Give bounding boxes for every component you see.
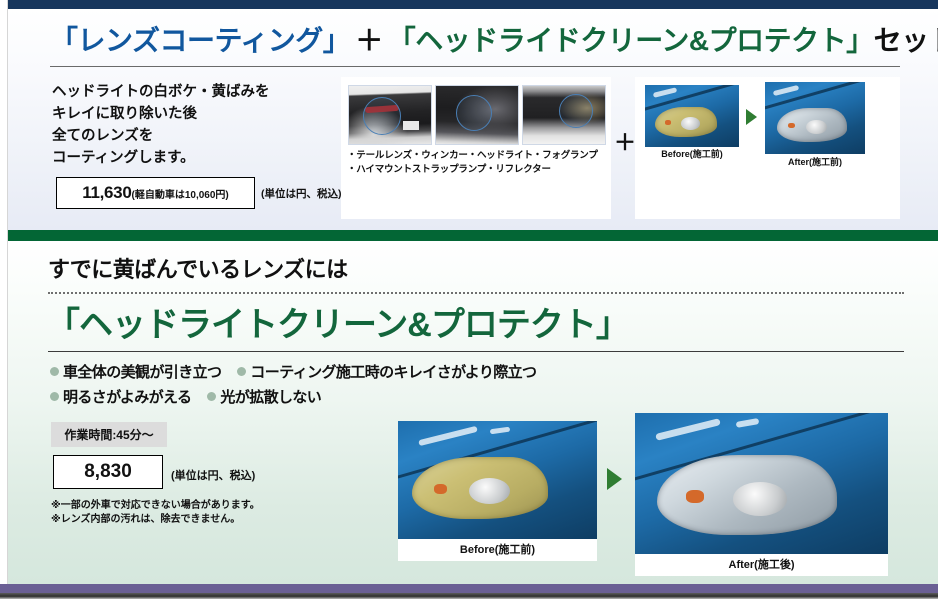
section2-notes: ※一部の外車で対応できない場合があります。 ※レンズ内部の汚れは、除去できません… <box>51 499 260 527</box>
section1-price-note: (軽自動車は10,060円) <box>132 186 229 201</box>
section1-after-image <box>765 82 865 154</box>
section1-before-caption: Before(施工前) <box>645 147 739 160</box>
section2-benefit-list: 車全体の美観が引き立つ コーティング施工時のキレイさがより際立つ 明るさがよみが… <box>50 359 552 409</box>
section1-title-green: 「ヘッドライドクリーン&プロテクト」 <box>388 25 874 56</box>
benefit-label: 明るさがよみがえる <box>63 386 191 407</box>
top-navy-bar <box>8 0 938 9</box>
section2-sub-heading: すでに黄ばんでいるレンズには <box>48 252 348 284</box>
list-item: 光が拡散しない <box>207 386 321 407</box>
bullet-dot-icon <box>237 367 246 376</box>
caption-line-1: ・テールレンズ・ウィンカー・ヘッドライト・フォグランプ <box>347 149 598 163</box>
section2-after-image <box>635 413 888 554</box>
section1-photo-caption: ・テールレンズ・ウィンカー・ヘッドライト・フォグランプ ・ハイマウントストラップ… <box>347 149 598 177</box>
bullet-dot-icon <box>207 392 216 401</box>
green-divider-bar <box>8 230 938 241</box>
section1-title-plus: ＋ <box>350 25 388 56</box>
section1-tax-note: (単位は円、税込) <box>261 186 342 201</box>
section1-lead-text: ヘッドライトの白ボケ・黄ばみを キレイに取り除いた後 全てのレンズを コーティン… <box>52 81 352 169</box>
section1-title-blue: 「レンズコーティング」 <box>50 25 350 56</box>
section2-dotted-divider <box>48 292 904 294</box>
section2-before-caption: Before(施工前) <box>398 539 597 561</box>
section1-before-image <box>645 85 739 147</box>
section2-solid-divider <box>48 351 904 352</box>
lead-line-3: 全てのレンズを <box>52 125 352 147</box>
section1-divider <box>50 66 900 67</box>
work-time-badge: 作業時間:45分〜 <box>51 422 167 447</box>
benefit-label: 光が拡散しない <box>220 386 321 407</box>
benefit-row: 明るさがよみがえる 光が拡散しない <box>50 384 552 409</box>
thumbnail-row <box>348 85 606 145</box>
note-line-2: ※レンズ内部の汚れは、除去できません。 <box>51 513 260 527</box>
benefit-row: 車全体の美観が引き立つ コーティング施工時のキレイさがより際立つ <box>50 359 552 384</box>
annotation-circle <box>456 95 492 131</box>
caption-line-2: ・ハイマウントストラップランプ・リフレクター <box>347 163 598 177</box>
benefit-label: コーティング施工時のキレイさがより際立つ <box>250 361 536 382</box>
yellowed-headlight <box>655 107 717 137</box>
section2-before-image <box>398 421 597 539</box>
section1-price-amount: 11,630 <box>82 183 131 203</box>
bottom-purple-bar <box>0 584 938 593</box>
arrow-right-icon <box>746 109 757 125</box>
list-item: 明るさがよみがえる <box>50 386 191 407</box>
section2-tax-note: (単位は円、税込) <box>171 467 255 483</box>
section-lens-coating-set: 「レンズコーティング」＋「ヘッドライドクリーン&プロテクト」セット ヘッドライト… <box>8 9 938 230</box>
clear-headlight <box>657 455 837 535</box>
lead-line-2: キレイに取り除いた後 <box>52 103 352 125</box>
bullet-dot-icon <box>50 392 59 401</box>
section1-title: 「レンズコーティング」＋「ヘッドライドクリーン&プロテクト」セット <box>50 19 938 59</box>
bottom-image-sliver <box>0 593 938 599</box>
lead-line-4: コーティングします。 <box>52 147 352 169</box>
section1-price-box: 11,630(軽自動車は10,060円) <box>56 177 255 209</box>
slide-page: 「レンズコーティング」＋「ヘッドライドクリーン&プロテクト」セット ヘッドライト… <box>0 0 938 599</box>
section2-price-box: 8,830 <box>53 455 163 489</box>
list-item: コーティング施工時のキレイさがより際立つ <box>237 361 536 382</box>
bullet-dot-icon <box>50 367 59 376</box>
lead-line-1: ヘッドライトの白ボケ・黄ばみを <box>52 81 352 103</box>
section2-after-caption: After(施工後) <box>635 554 888 576</box>
thumbnail-side-mirror-winker <box>435 85 519 145</box>
section-headlight-clean-protect: すでに黄ばんでいるレンズには 「ヘッドライトクリーン&プロテクト」 車全体の美観… <box>8 241 938 584</box>
annotation-circle <box>559 94 593 128</box>
section1-title-black: セット <box>874 25 938 56</box>
clear-headlight <box>777 108 847 142</box>
thumbnail-rear-tail-lamp <box>348 85 432 145</box>
arrow-right-icon <box>607 468 622 490</box>
note-line-1: ※一部の外車で対応できない場合があります。 <box>51 499 260 513</box>
license-plate <box>403 121 419 130</box>
plus-symbol: ＋ <box>614 125 636 157</box>
benefit-label: 車全体の美観が引き立つ <box>63 361 221 382</box>
section1-after-caption: After(施工前) <box>765 155 865 168</box>
section1-photo-panel-a: ・テールレンズ・ウィンカー・ヘッドライト・フォグランプ ・ハイマウントストラップ… <box>341 77 611 219</box>
list-item: 車全体の美観が引き立つ <box>50 361 221 382</box>
section1-photo-panel-b: Before(施工前) After(施工前) <box>635 77 900 219</box>
thumbnail-front-headlight <box>522 85 606 145</box>
section2-main-heading: 「ヘッドライトクリーン&プロテクト」 <box>46 297 629 346</box>
annotation-circle <box>363 97 401 135</box>
yellowed-headlight <box>412 457 548 519</box>
